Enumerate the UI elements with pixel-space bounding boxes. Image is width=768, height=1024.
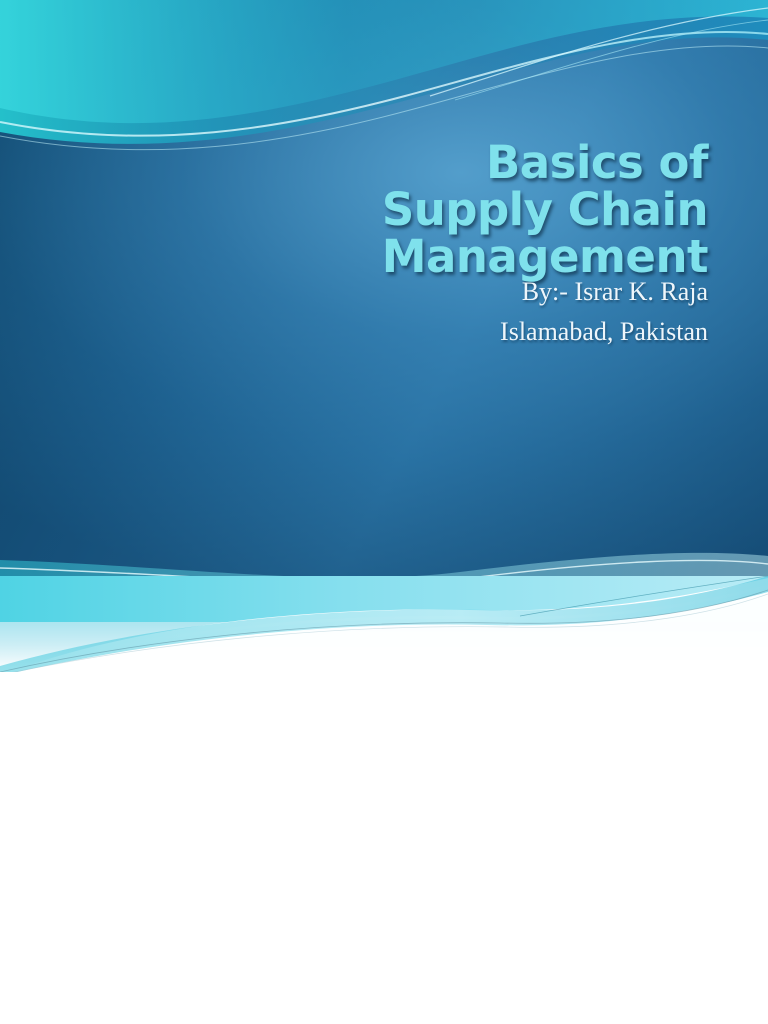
slide-content-wave-decoration (0, 576, 768, 672)
slide-title-subtitle: By:- Israr K. Raja Islamabad, Pakistan (60, 272, 708, 351)
title-line-primary: Basics of (60, 140, 708, 187)
author-location: Islamabad, Pakistan (60, 312, 708, 352)
title-line-secondary: Supply Chain Management (60, 187, 708, 281)
author-name: By:- Israr K. Raja (60, 272, 708, 312)
slide-title-heading: Basics of Supply Chain Management (60, 140, 708, 280)
slide-content: Supply Chain Management SCM consists of … (0, 576, 768, 1024)
slide-content-band (0, 576, 768, 672)
slide-title: Basics of Supply Chain Management By:- I… (0, 0, 768, 576)
presentation-deck: Basics of Supply Chain Management By:- I… (0, 0, 768, 1024)
